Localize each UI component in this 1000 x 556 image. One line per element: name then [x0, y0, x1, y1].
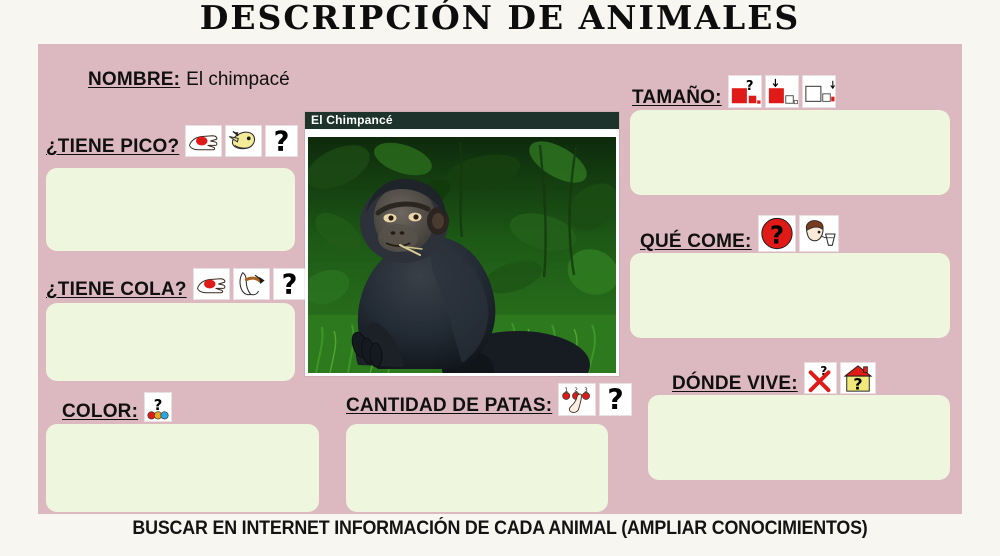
field-tiene-pico: ¿TIENE PICO? ?	[46, 125, 298, 157]
pictogram-group-donde-vive: ? ?	[804, 362, 876, 394]
house-question-icon: ?	[840, 362, 876, 394]
answer-box-tiene-pico[interactable]	[46, 168, 295, 251]
answer-box-donde-vive[interactable]	[648, 395, 950, 480]
svg-text:?: ?	[154, 396, 163, 414]
animal-tail-icon	[233, 268, 270, 300]
page-title: DESCRIPCIÓN DE ANIMALES	[0, 0, 1000, 37]
answer-box-que-come[interactable]	[630, 253, 950, 338]
field-que-come: QUÉ COME: ?	[640, 215, 839, 252]
field-label-tiene-cola: ¿TIENE COLA?	[46, 280, 187, 300]
field-color: COLOR: ?	[62, 392, 172, 422]
field-tamano: TAMAÑO: ?	[632, 75, 836, 108]
field-label-nombre: NOMBRE:	[88, 70, 180, 90]
answer-box-tiene-cola[interactable]	[46, 303, 295, 381]
pictogram-group-que-come: ?	[758, 215, 839, 252]
size-small-icon	[765, 75, 799, 108]
size-big-icon	[802, 75, 836, 108]
question-color-dots-icon: ?	[144, 392, 172, 422]
question-mark-icon: ?	[599, 383, 632, 416]
red-question-circle-icon: ?	[758, 215, 796, 252]
svg-text:?: ?	[608, 384, 624, 415]
field-nombre: NOMBRE: El chimpacé	[88, 70, 290, 90]
field-label-que-come: QUÉ COME:	[640, 232, 752, 252]
svg-text:?: ?	[853, 374, 862, 393]
field-label-cantidad-de-patas: CANTIDAD DE PATAS:	[346, 396, 552, 416]
chimpanzee-photo	[308, 137, 616, 373]
size-question-icon: ?	[728, 75, 762, 108]
answer-box-color[interactable]	[46, 424, 319, 512]
pictogram-group-color: ?	[144, 392, 172, 422]
hand-red-dot-icon	[185, 125, 222, 157]
photo-caption: El Chimpancé	[305, 112, 619, 129]
pictogram-group-tiene-cola: ?	[193, 268, 306, 300]
svg-text:?: ?	[281, 269, 297, 299]
field-label-tiene-pico: ¿TIENE PICO?	[46, 137, 179, 157]
field-label-color: COLOR:	[62, 402, 138, 422]
field-tiene-cola: ¿TIENE COLA? ?	[46, 268, 306, 300]
bird-beak-icon	[225, 125, 262, 157]
svg-text:?: ?	[746, 79, 754, 94]
question-mark-icon: ?	[265, 125, 298, 157]
pictogram-group-tiene-pico: ?	[185, 125, 298, 157]
svg-text:?: ?	[274, 126, 290, 156]
counting-fingers-icon: 1 2 3	[558, 383, 596, 416]
animal-photo-card: El Chimpancé	[305, 112, 619, 376]
footer-note: BUSCAR EN INTERNET INFORMACIÓN DE CADA A…	[30, 518, 970, 540]
red-x-question-icon: ?	[804, 362, 837, 394]
pictogram-group-tamano: ?	[728, 75, 836, 108]
question-mark-icon: ?	[273, 268, 306, 300]
answer-box-tamano[interactable]	[630, 110, 950, 195]
field-label-donde-vive: DÓNDE VIVE:	[672, 374, 798, 394]
svg-text:?: ?	[769, 220, 783, 249]
answer-box-cantidad-de-patas[interactable]	[346, 424, 608, 512]
field-value-nombre[interactable]: El chimpacé	[186, 70, 290, 90]
person-eating-icon	[799, 215, 839, 252]
field-label-tamano: TAMAÑO:	[632, 88, 722, 108]
pictogram-group-cantidad-de-patas: 1 2 3 ?	[558, 383, 632, 416]
field-cantidad-de-patas: CANTIDAD DE PATAS: 1 2 3 ?	[346, 383, 632, 416]
field-donde-vive: DÓNDE VIVE: ? ?	[672, 362, 876, 394]
hand-red-dot-icon	[193, 268, 230, 300]
